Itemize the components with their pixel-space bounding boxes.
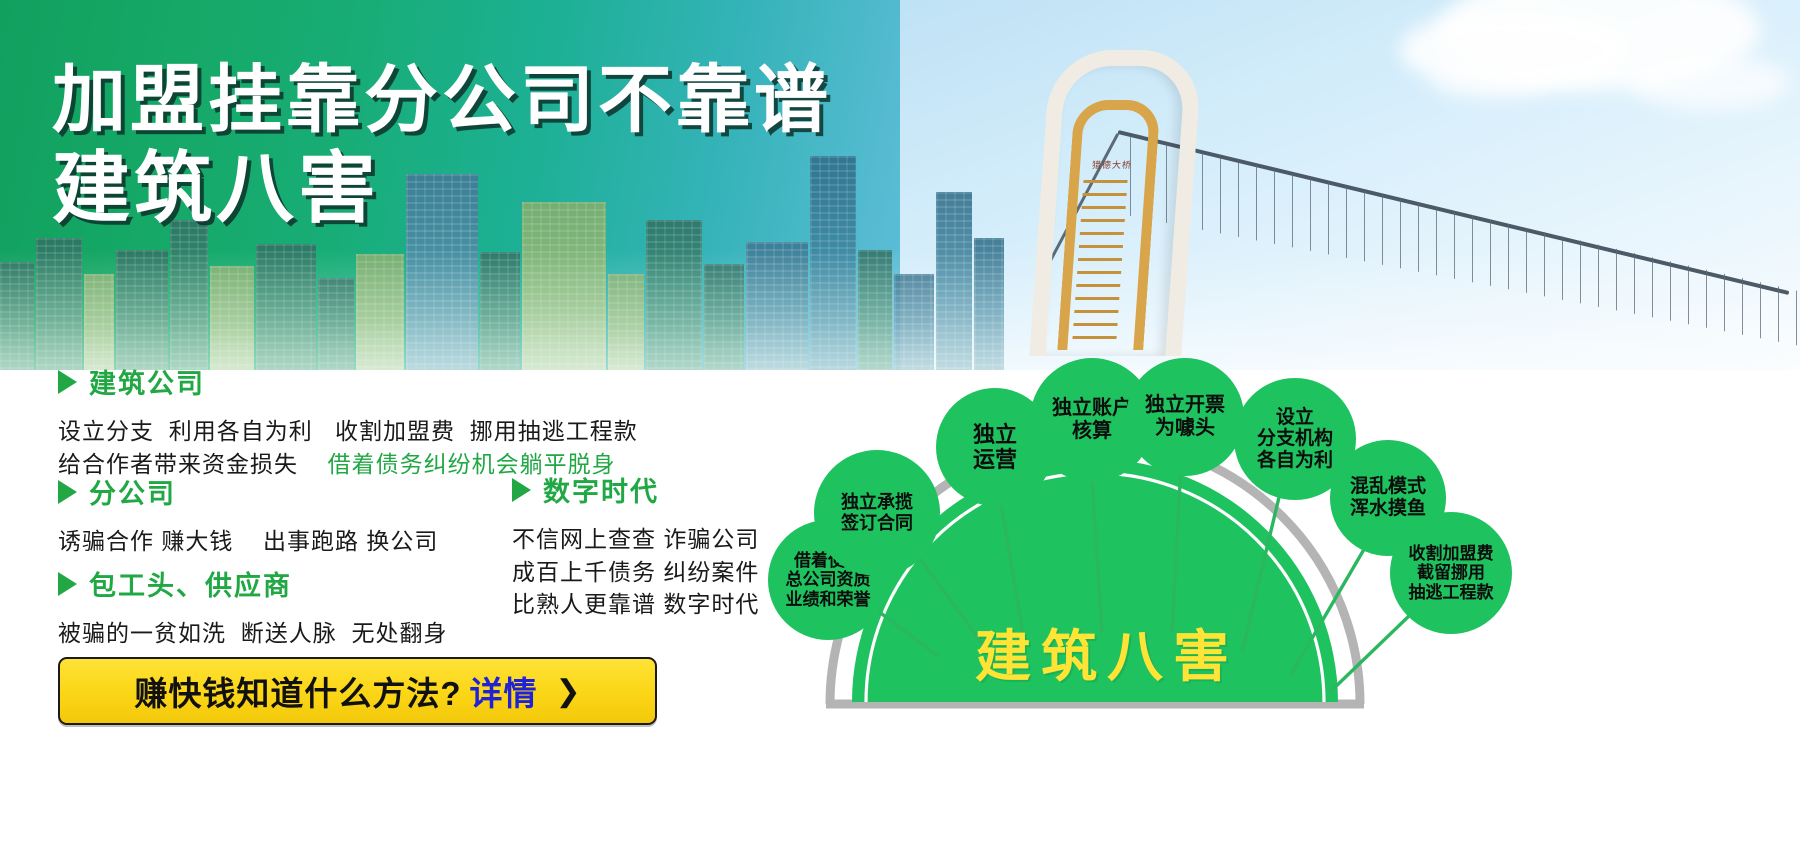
section-line: 不信网上查查 诈骗公司 <box>512 523 759 556</box>
bubble-independent-contracting[interactable]: 独立承揽 签订合同 <box>814 450 940 576</box>
section-line-text: 诱骗合作 赚大钱 出事跑路 换公司 <box>58 528 438 554</box>
cta-button[interactable]: 赚快钱知道什么方法? 详情 ❯ <box>58 657 657 725</box>
section-line-text: 设立分支 利用各自为利 收割加盟费 挪用抽逃工程款 <box>58 418 638 444</box>
section-digital-era: 数字时代 不信网上查查 诈骗公司 成百上千债务 纠纷案件 比熟人更靠谱 数字时代 <box>512 470 759 621</box>
section-line: 被骗的一贫如洗 断送人脉 无处翻身 <box>58 617 448 650</box>
bridge-illustration: 猎德大桥 <box>1000 40 1800 340</box>
section-header: 分公司 <box>58 472 438 511</box>
section-branch-company: 分公司 诱骗合作 赚大钱 出事跑路 换公司 <box>58 472 438 558</box>
dome-title: 建筑八害 <box>975 612 1239 693</box>
section-line-text: 被骗的一贫如洗 断送人脉 无处翻身 <box>58 620 448 646</box>
headline-line-2: 建筑八害 <box>52 149 832 229</box>
cta-main-label: 赚快钱知道什么方法? <box>134 667 461 715</box>
triangle-bullet-icon <box>58 572 77 596</box>
section-header: 包工头、供应商 <box>58 564 448 603</box>
bubble-label: 收割加盟费 截留挪用 抽逃工程款 <box>1409 544 1494 602</box>
triangle-bullet-icon <box>58 370 77 394</box>
hero-banner: 猎德大桥 加盟挂靠分公司不靠谱 建筑八害 <box>0 0 1800 370</box>
section-line-text: 比熟人更靠谱 数字时代 <box>512 591 759 617</box>
section-title: 分公司 <box>89 472 176 511</box>
bubble-label: 独立 运营 <box>973 422 1017 472</box>
bridge-label: 猎德大桥 <box>1092 158 1133 171</box>
hero-headline: 加盟挂靠分公司不靠谱 建筑八害 <box>52 62 832 229</box>
bubble-label: 独立账户 核算 <box>1052 397 1132 443</box>
bubble-independent-invoice[interactable]: 独立开票 为噱头 <box>1126 358 1244 476</box>
chevron-right-icon: ❯ <box>556 674 581 709</box>
eight-harms-diagram: 借着使用 总公司资质 业绩和荣誉 独立承揽 签订合同 独立 运营 独立账户 核算… <box>790 340 1800 844</box>
section-title: 数字时代 <box>543 470 659 509</box>
section-line: 成百上千债务 纠纷案件 <box>512 556 759 589</box>
section-line: 诱骗合作 赚大钱 出事跑路 换公司 <box>58 525 438 558</box>
bubble-label: 混乱模式 浑水摸鱼 <box>1350 476 1426 519</box>
section-contractor-supplier: 包工头、供应商 被骗的一贫如洗 断送人脉 无处翻身 <box>58 564 448 650</box>
triangle-bullet-icon <box>512 478 531 502</box>
bubble-label: 独立开票 为噱头 <box>1145 394 1225 440</box>
section-title: 建筑公司 <box>89 362 205 401</box>
section-construction-company: 建筑公司 设立分支 利用各自为利 收割加盟费 挪用抽逃工程款 给合作者带来资金损… <box>58 362 638 480</box>
bubble-label: 设立 分支机构 各自为利 <box>1257 407 1333 472</box>
left-content-column: 建筑公司 设立分支 利用各自为利 收割加盟费 挪用抽逃工程款 给合作者带来资金损… <box>0 372 790 844</box>
bubble-franchise-fee-siphon[interactable]: 收割加盟费 截留挪用 抽逃工程款 <box>1390 512 1512 634</box>
section-line-text: 不信网上查查 诈骗公司 <box>512 526 759 552</box>
poster-root: 猎德大桥 加盟挂靠分公司不靠谱 建筑八害 建筑公司 设立分支 利用各自为利 收割… <box>0 0 1800 844</box>
section-line: 设立分支 利用各自为利 收割加盟费 挪用抽逃工程款 <box>58 415 638 448</box>
bridge-hangers <box>1130 136 1800 346</box>
section-header: 建筑公司 <box>58 362 638 401</box>
section-header: 数字时代 <box>512 470 759 509</box>
section-line-text: 成百上千债务 纠纷案件 <box>512 559 759 585</box>
bubble-label: 独立承揽 签订合同 <box>841 492 913 533</box>
headline-line-1: 加盟挂靠分公司不靠谱 <box>52 62 832 137</box>
triangle-bullet-icon <box>58 480 77 504</box>
section-title: 包工头、供应商 <box>89 564 292 603</box>
section-line: 比熟人更靠谱 数字时代 <box>512 588 759 621</box>
cta-link-label[interactable]: 详情 <box>470 667 538 715</box>
